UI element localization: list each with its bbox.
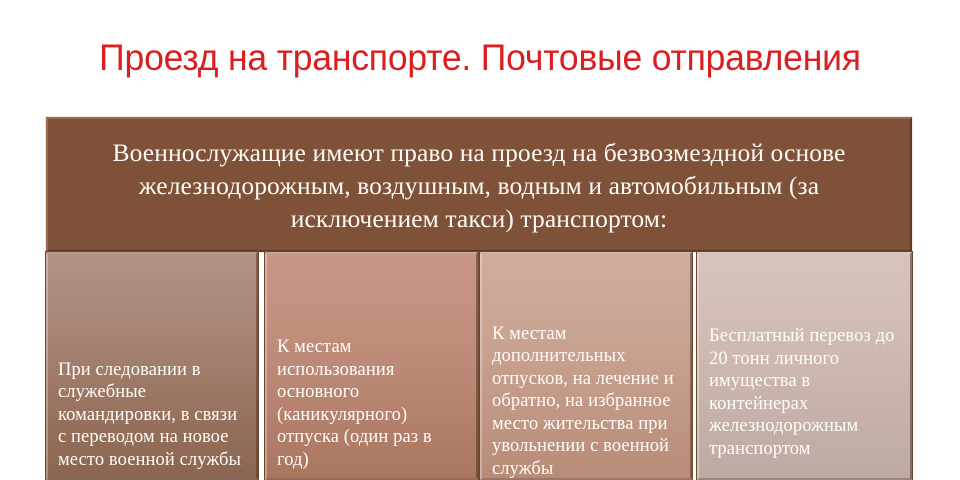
column-text-4: Бесплатный перевоз до 20 тонн личного им… <box>709 325 901 460</box>
header-banner-text: Военнослужащие имеют право на проезд на … <box>48 119 910 235</box>
header-banner: Военнослужащие имеют право на проезд на … <box>46 117 912 252</box>
column-body-2: К местам использования основного (канику… <box>267 336 476 475</box>
page-title: Проезд на транспорте. Почтовые отправлен… <box>19 30 941 86</box>
column-card-1: При следовании в служебные командировки,… <box>46 252 258 480</box>
column-text-3: К местам дополнительных отпусков, на леч… <box>492 323 681 480</box>
column-text-1: При следовании в служебные командировки,… <box>58 359 247 472</box>
column-card-3: К местам дополнительных отпусков, на леч… <box>480 252 692 480</box>
columns-row: При следовании в служебные командировки,… <box>46 252 912 480</box>
column-body-3: К местам дополнительных отпусков, на леч… <box>482 323 690 480</box>
column-body-1: При следовании в служебные командировки,… <box>48 359 256 476</box>
column-card-2: К местам использования основного (канику… <box>265 252 478 480</box>
column-text-2: К местам использования основного (канику… <box>277 336 467 471</box>
column-body-4: Бесплатный перевоз до 20 тонн личного им… <box>699 325 910 464</box>
column-card-4: Бесплатный перевоз до 20 тонн личного им… <box>697 252 912 480</box>
slide-canvas: Проезд на транспорте. Почтовые отправлен… <box>0 0 960 480</box>
